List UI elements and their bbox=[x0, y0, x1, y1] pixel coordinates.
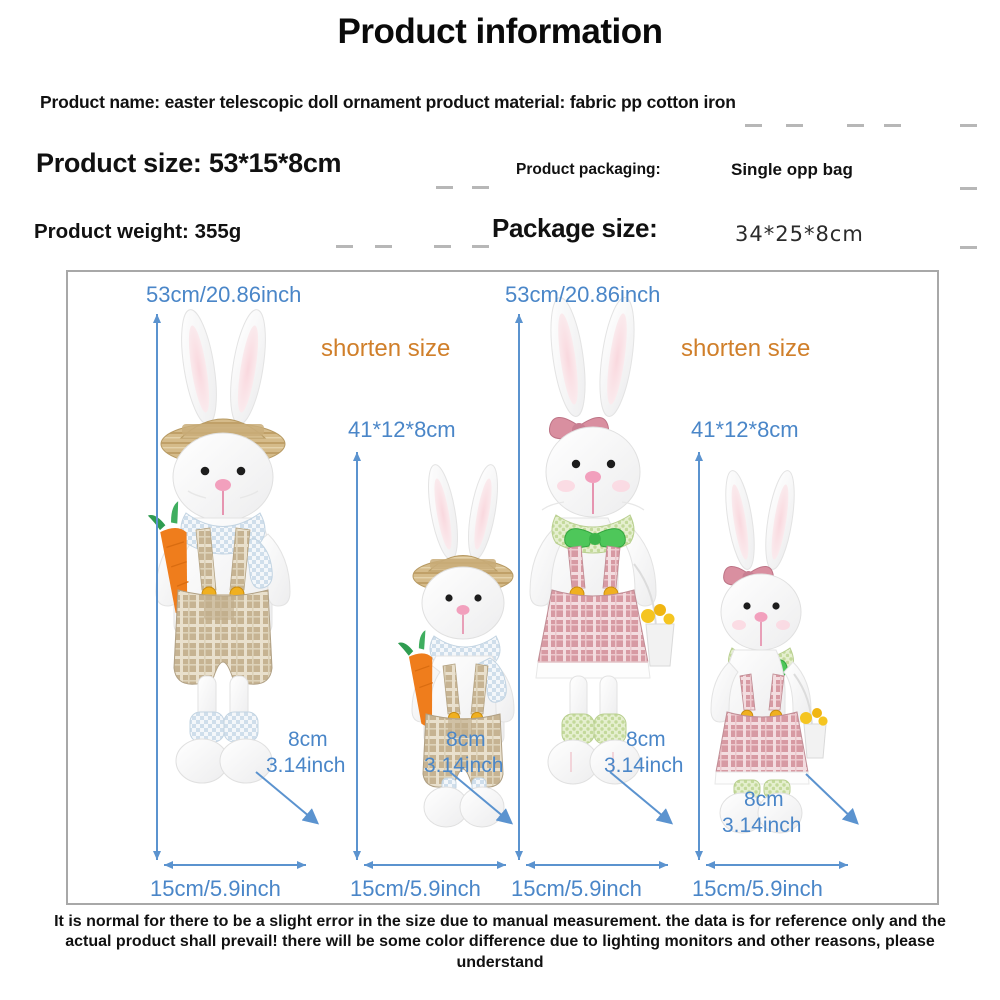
product-information-page: Product information Product name: easter… bbox=[0, 0, 1000, 1000]
table-rule-dash bbox=[786, 124, 803, 127]
table-rule-dash bbox=[884, 124, 901, 127]
figure-3-depth-label-line1: 8cm bbox=[626, 728, 666, 752]
table-rule-dash bbox=[960, 246, 977, 249]
figure-4-width-label: 15cm/5.9inch bbox=[692, 876, 823, 902]
figure-2-height-label: 41*12*8cm bbox=[348, 417, 456, 443]
product-weight-value: Product weight: 355g bbox=[34, 220, 241, 244]
figure-2-width-guide bbox=[364, 864, 506, 866]
figure-2-depth-label-line1: 8cm bbox=[446, 728, 486, 752]
table-rule-dash bbox=[960, 124, 977, 127]
figure-4-depth-label-line2: 3.14inch bbox=[722, 814, 801, 838]
product-packaging-value: Single opp bag bbox=[731, 160, 853, 180]
figure-2-height-guide bbox=[356, 452, 358, 860]
figure-1-height-label: 53cm/20.86inch bbox=[146, 282, 301, 308]
figure-1-depth-label-line1: 8cm bbox=[288, 728, 328, 752]
figure-4-depth-leader bbox=[804, 772, 874, 832]
figure-3-width-guide bbox=[526, 864, 668, 866]
figure-1-width-label: 15cm/5.9inch bbox=[150, 876, 281, 902]
shorten-size-label-right: shorten size bbox=[681, 335, 810, 363]
table-rule-dash bbox=[745, 124, 762, 127]
table-rule-dash bbox=[434, 245, 451, 248]
product-name-line: Product name: easter telescopic doll orn… bbox=[40, 92, 736, 113]
figure-1-depth-leader bbox=[254, 770, 334, 830]
table-rule-dash bbox=[472, 186, 489, 189]
table-rule-dash bbox=[472, 245, 489, 248]
figure-4-depth-label-line1: 8cm bbox=[744, 788, 784, 812]
table-rule-dash bbox=[960, 187, 977, 190]
package-size-label: Package size: bbox=[492, 213, 657, 244]
page-title: Product information bbox=[0, 12, 1000, 52]
product-packaging-label: Product packaging: bbox=[516, 161, 661, 179]
figure-3-height-label: 53cm/20.86inch bbox=[505, 282, 660, 308]
table-rule-dash bbox=[436, 186, 453, 189]
figure-boy-large bbox=[146, 307, 290, 783]
figure-3-height-guide bbox=[518, 314, 520, 860]
table-rule-dash bbox=[847, 124, 864, 127]
product-size-value: Product size: 53*15*8cm bbox=[36, 148, 341, 179]
figure-3-depth-leader bbox=[608, 770, 688, 830]
figure-4-height-label: 41*12*8cm bbox=[691, 417, 799, 443]
figure-1-height-guide bbox=[156, 314, 158, 860]
table-rule-dash bbox=[375, 245, 392, 248]
figure-4-height-guide bbox=[698, 452, 700, 860]
size-diagram-panel: 53cm/20.86inch 15cm/5.9inch 8cm 3.14inch… bbox=[66, 270, 939, 905]
figure-3-width-label: 15cm/5.9inch bbox=[511, 876, 642, 902]
figure-1-width-guide bbox=[164, 864, 306, 866]
figure-girl-large bbox=[530, 295, 675, 784]
shorten-size-label-left: shorten size bbox=[321, 335, 450, 363]
figure-4-width-guide bbox=[706, 864, 848, 866]
table-rule-dash bbox=[336, 245, 353, 248]
figure-2-depth-leader bbox=[448, 770, 528, 830]
disclaimer-text: It is normal for there to be a slight er… bbox=[30, 912, 970, 973]
figure-2-width-label: 15cm/5.9inch bbox=[350, 876, 481, 902]
package-size-value: 34*25*8cm bbox=[735, 222, 864, 246]
